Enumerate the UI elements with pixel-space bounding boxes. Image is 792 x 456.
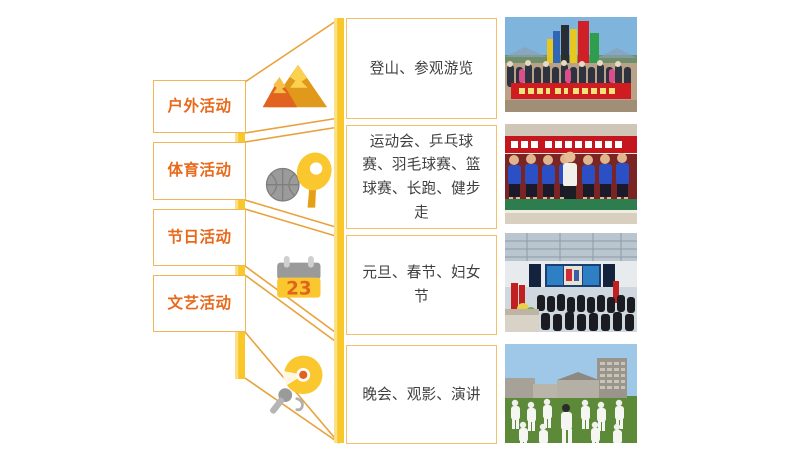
category-label-sports: 体育活动 bbox=[167, 163, 231, 179]
detail-text-outdoor: 登山、参观游览 bbox=[370, 57, 474, 81]
photo-festival bbox=[505, 233, 637, 332]
category-box-sports[interactable]: 体育活动 bbox=[153, 142, 246, 200]
detail-text-festival: 元旦、春节、妇女节 bbox=[356, 261, 487, 308]
category-label-festival: 节日活动 bbox=[167, 230, 231, 246]
category-label-arts: 文艺活动 bbox=[167, 296, 231, 312]
detail-box-arts[interactable]: 晚会、观影、演讲 bbox=[346, 345, 497, 444]
photo-arts bbox=[505, 344, 637, 443]
photo-outdoor bbox=[505, 17, 637, 112]
photo-sports bbox=[505, 124, 637, 224]
detail-box-outdoor[interactable]: 登山、参观游览 bbox=[346, 18, 497, 119]
category-box-outdoor[interactable]: 户外活动 bbox=[153, 80, 246, 133]
infographic-canvas: 户外活动 登山、参观游览 bbox=[0, 0, 792, 456]
category-label-outdoor: 户外活动 bbox=[167, 99, 231, 115]
detail-text-arts: 晚会、观影、演讲 bbox=[362, 383, 480, 407]
category-box-arts[interactable]: 文艺活动 bbox=[153, 275, 246, 332]
detail-box-festival[interactable]: 元旦、春节、妇女节 bbox=[346, 235, 497, 335]
detail-box-sports[interactable]: 运动会、乒乓球赛、羽毛球赛、篮球赛、长跑、健步走 bbox=[346, 125, 497, 229]
category-box-festival[interactable]: 节日活动 bbox=[153, 209, 246, 266]
detail-text-sports: 运动会、乒乓球赛、羽毛球赛、篮球赛、长跑、健步走 bbox=[356, 130, 487, 225]
